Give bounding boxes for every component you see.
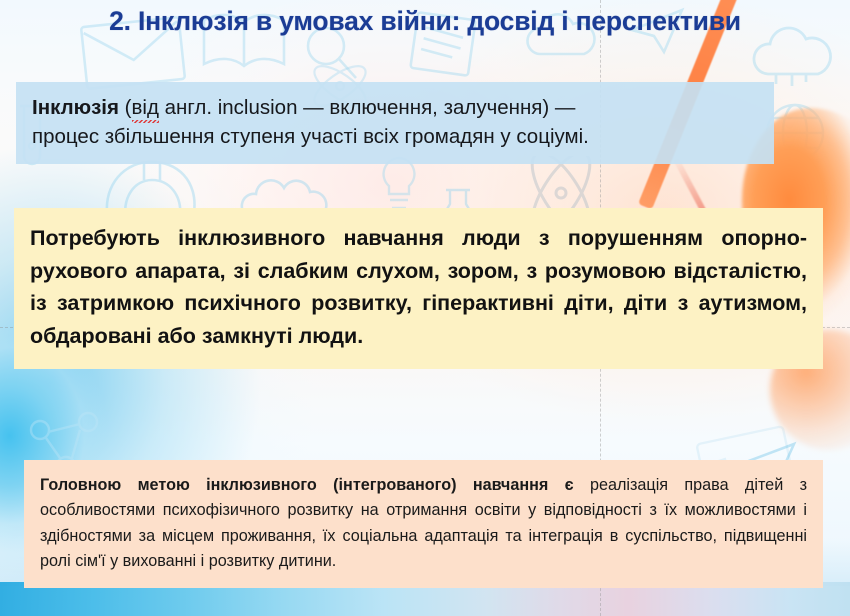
definition-open-paren: ( (119, 96, 132, 119)
inclusive-education-needs-textbox: Потребують інклюзивного навчання люди з … (14, 208, 823, 369)
page-title: 2. Інклюзія в умовах війни: досвід і пер… (0, 6, 850, 37)
main-goal-textbox: Головною метою інклюзивного (інтегровано… (24, 460, 823, 588)
definition-line-1: Інклюзія (від англ. inclusion — включенн… (32, 93, 758, 122)
presentation-slide: 2. Інклюзія в умовах війни: досвід і пер… (0, 0, 850, 616)
definition-textbox: Інклюзія (від англ. inclusion — включенн… (16, 82, 774, 164)
definition-term: Інклюзія (32, 96, 119, 119)
definition-rest: англ. inclusion — включення, залучення) … (159, 96, 576, 119)
spellchecked-word: від (132, 93, 159, 122)
goal-bold-lead: Головною метою інклюзивного (інтегровано… (40, 476, 574, 494)
definition-line-2: процес збільшення ступеня участі всіх гр… (32, 122, 758, 151)
